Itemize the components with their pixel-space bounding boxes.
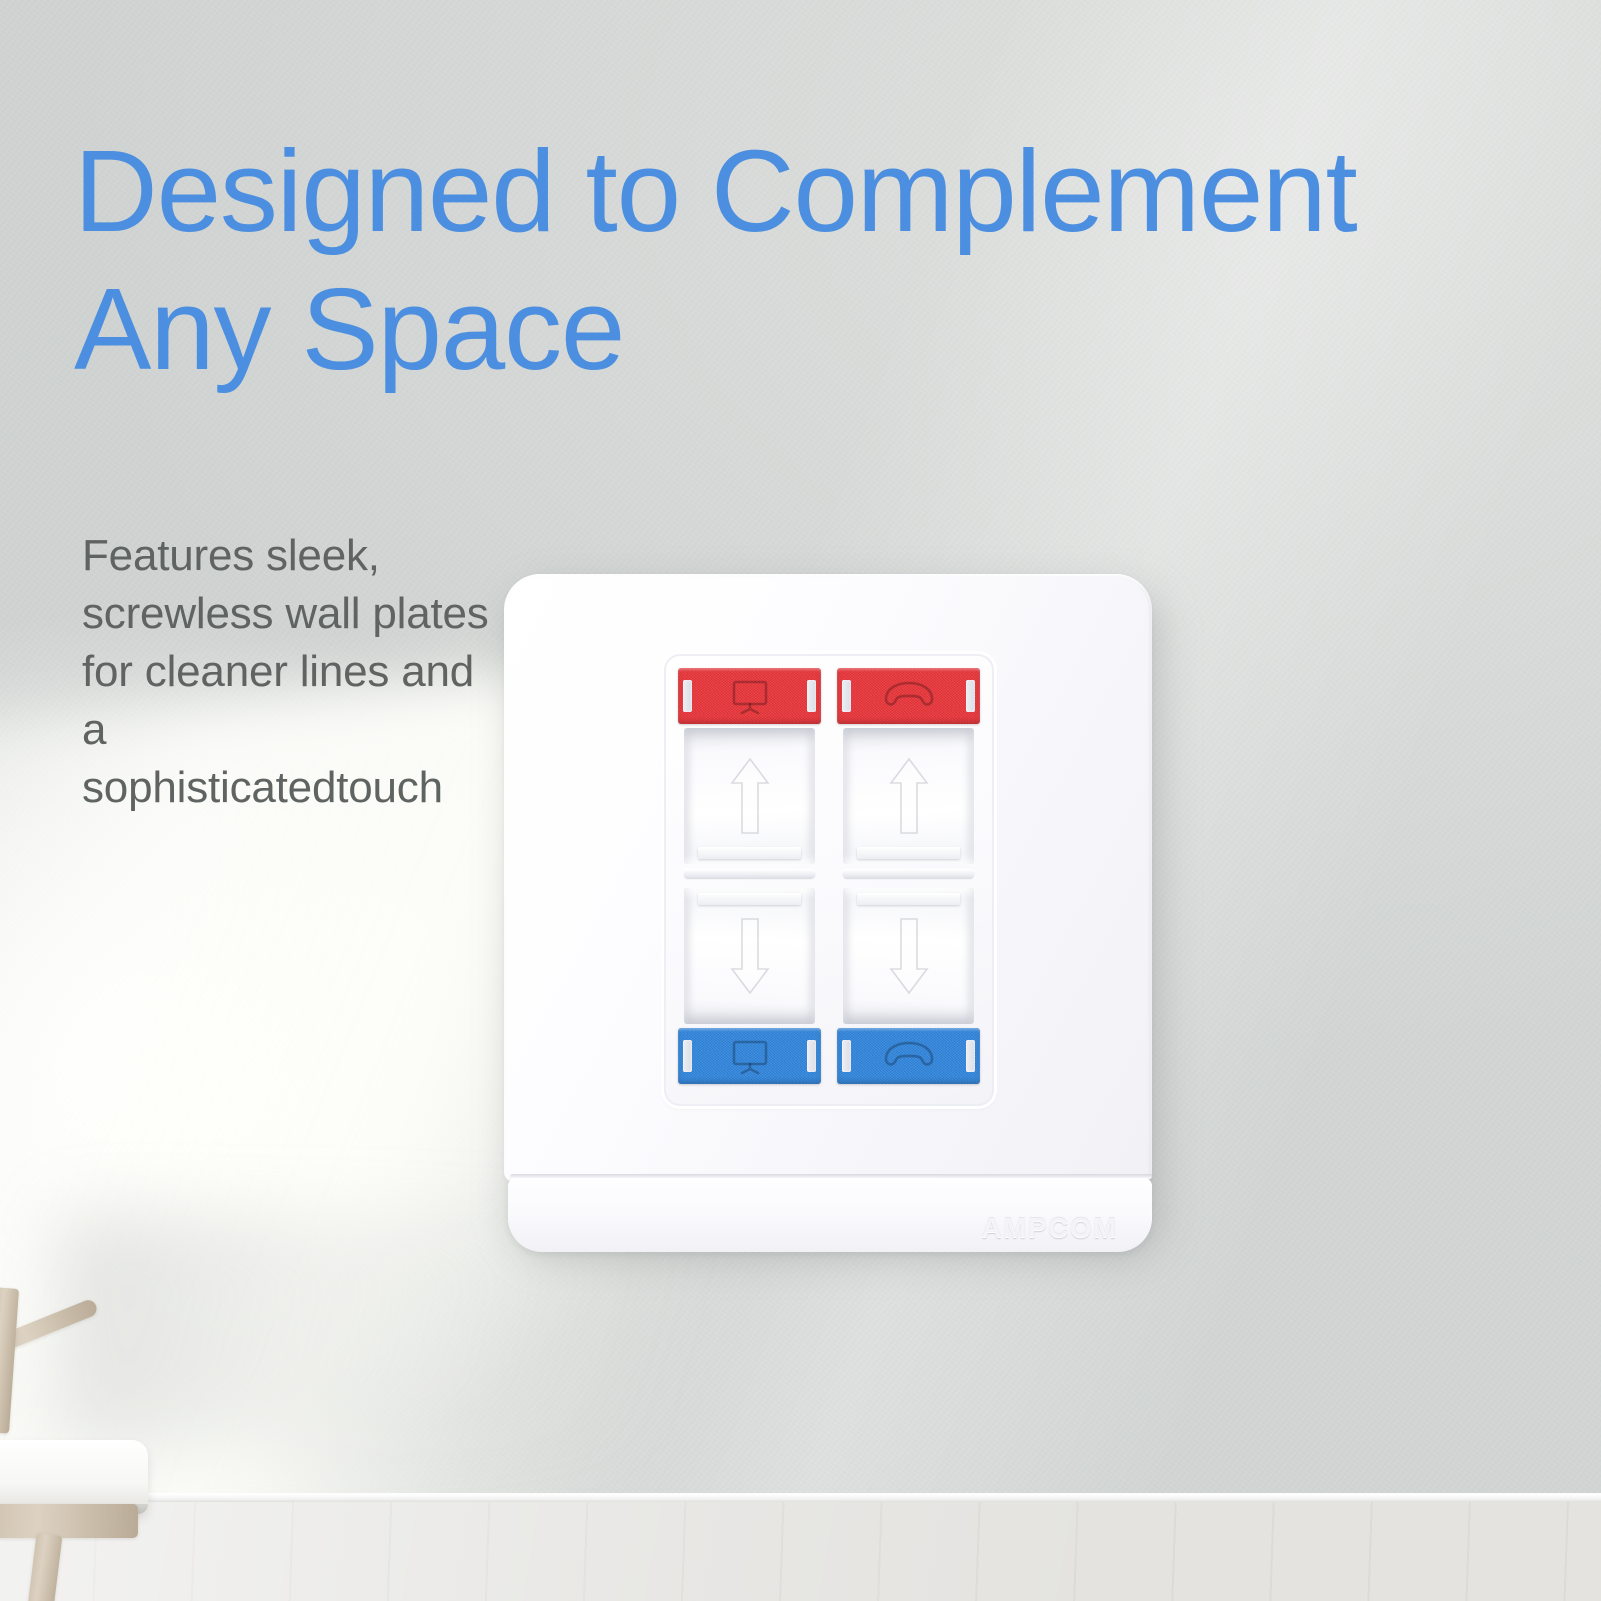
chair-cushion (0, 1440, 148, 1514)
plate-base-panel: AMPCOM (508, 1178, 1152, 1252)
down-arrow-icon (727, 913, 773, 999)
product-marketing-image: Designed to Complement Any Space Feature… (0, 0, 1601, 1601)
wooden-chair (0, 1288, 248, 1601)
port-grid (678, 668, 980, 1092)
chair-backpost (0, 1287, 19, 1433)
port-bezel (664, 654, 994, 1106)
shutter-red-monitor[interactable] (678, 668, 821, 724)
up-arrow-icon (727, 753, 773, 839)
wall-plate: AMPCOM (504, 574, 1156, 1252)
port-top-left[interactable] (678, 668, 821, 878)
port-bottom-right[interactable] (837, 888, 980, 1092)
port-divider-rail-left (684, 869, 815, 878)
brand-logo: AMPCOM (981, 1202, 1118, 1247)
socket-lip (857, 893, 960, 905)
phone-icon (878, 679, 940, 713)
socket-lip (698, 893, 801, 905)
body-copy: Features sleek, screwless wall plates fo… (82, 527, 502, 817)
socket-lip (857, 847, 960, 859)
chair-seat-rail (0, 1504, 138, 1538)
port-divider-rail-right (843, 869, 974, 878)
port-bottom-left[interactable] (678, 888, 821, 1092)
socket-cavity-top-left[interactable] (684, 728, 815, 864)
socket-cavity-bottom-right[interactable] (843, 888, 974, 1024)
headline: Designed to Complement Any Space (74, 122, 1494, 398)
monitor-icon (722, 676, 778, 716)
port-top-right[interactable] (837, 668, 980, 878)
shutter-blue-phone[interactable] (837, 1028, 980, 1084)
socket-cavity-bottom-left[interactable] (684, 888, 815, 1024)
chair-leg-front (20, 1533, 63, 1601)
shutter-blue-monitor[interactable] (678, 1028, 821, 1084)
socket-lip (698, 847, 801, 859)
phone-icon (878, 1039, 940, 1073)
monitor-icon (722, 1036, 778, 1076)
plate-face (504, 574, 1152, 1182)
socket-cavity-top-right[interactable] (843, 728, 974, 864)
up-arrow-icon (886, 753, 932, 839)
shutter-red-phone[interactable] (837, 668, 980, 724)
down-arrow-icon (886, 913, 932, 999)
